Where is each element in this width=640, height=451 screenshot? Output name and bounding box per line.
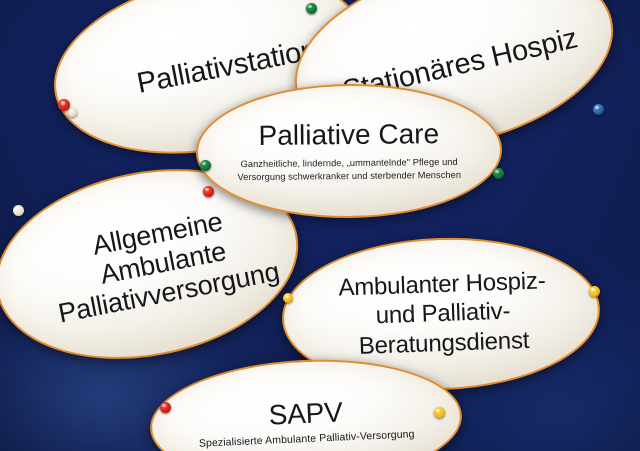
card-palliative-care-title: Palliative Care <box>219 117 479 151</box>
pushpin-red-icon <box>160 402 171 413</box>
card-aapv-content: Allgemeine Ambulante Palliativversorgung <box>27 194 299 333</box>
pushpin-green-icon <box>306 3 317 14</box>
card-palliative-care-subtitle: Ganzheitliche, lindernde, „ummantelnde" … <box>219 156 479 185</box>
card-palliative-care[interactable]: Palliative Care Ganzheitliche, lindernde… <box>195 82 502 219</box>
pushpin-yellow-icon <box>283 293 293 303</box>
pushpin-green-icon <box>493 168 504 179</box>
pushpin-white-icon <box>68 108 77 117</box>
card-palliative-care-subtitle-line2: Versorgung schwerkranker und sterbender … <box>219 169 479 185</box>
pushpin-yellow-icon <box>434 407 445 418</box>
pushpin-red-icon <box>203 186 214 197</box>
pushpin-yellow-icon <box>589 286 600 297</box>
pushpin-white-icon <box>13 205 24 216</box>
pushpin-blue-icon <box>593 104 604 115</box>
card-sapv-content: SAPV Spezialisierte Ambulante Palliativ-… <box>173 393 440 451</box>
card-ahpbd-content: Ambulanter Hospiz- und Palliativ- Beratu… <box>307 265 580 362</box>
pinboard-photo: Palliativstation Stationäres Hospiz Pall… <box>0 0 640 451</box>
card-palliative-care-content: Palliative Care Ganzheitliche, lindernde… <box>219 117 479 184</box>
pushpin-green-icon <box>200 160 211 171</box>
